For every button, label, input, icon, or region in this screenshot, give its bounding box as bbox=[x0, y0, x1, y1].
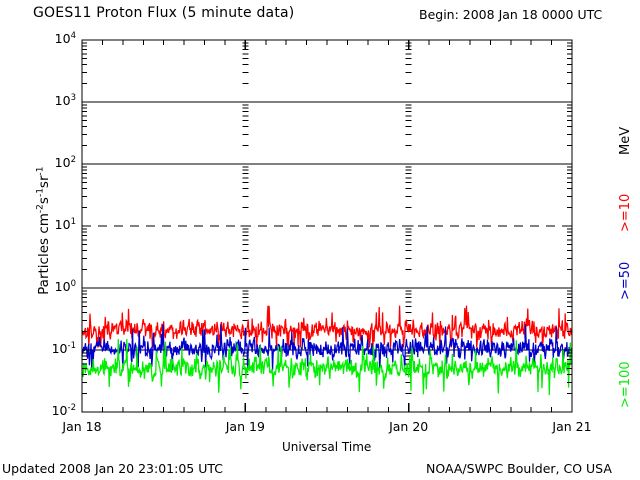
y-tick-label: 100 bbox=[55, 279, 76, 294]
data-series--10-mev bbox=[82, 306, 572, 348]
y-tick-label: 10-1 bbox=[52, 341, 76, 356]
y-tick-label: 104 bbox=[55, 31, 76, 46]
x-tick-label: Jan 21 bbox=[542, 419, 602, 434]
x-tick-label: Jan 19 bbox=[215, 419, 275, 434]
x-tick-label: Jan 18 bbox=[52, 419, 112, 434]
legend-item-ge50: >=50 bbox=[618, 262, 633, 300]
legend-unit-mev: MeV bbox=[618, 127, 633, 155]
y-tick-label: 101 bbox=[55, 217, 76, 232]
legend-item-ge100: >=100 bbox=[618, 361, 633, 408]
proton-flux-chart: GOES11 Proton Flux (5 minute data) Begin… bbox=[0, 0, 640, 480]
y-tick-label: 10-2 bbox=[52, 403, 76, 418]
legend-item-ge10: >=10 bbox=[618, 194, 633, 232]
y-tick-label: 102 bbox=[55, 155, 76, 170]
x-tick-label: Jan 20 bbox=[379, 419, 439, 434]
plot-canvas bbox=[0, 0, 640, 480]
y-tick-label: 103 bbox=[55, 93, 76, 108]
